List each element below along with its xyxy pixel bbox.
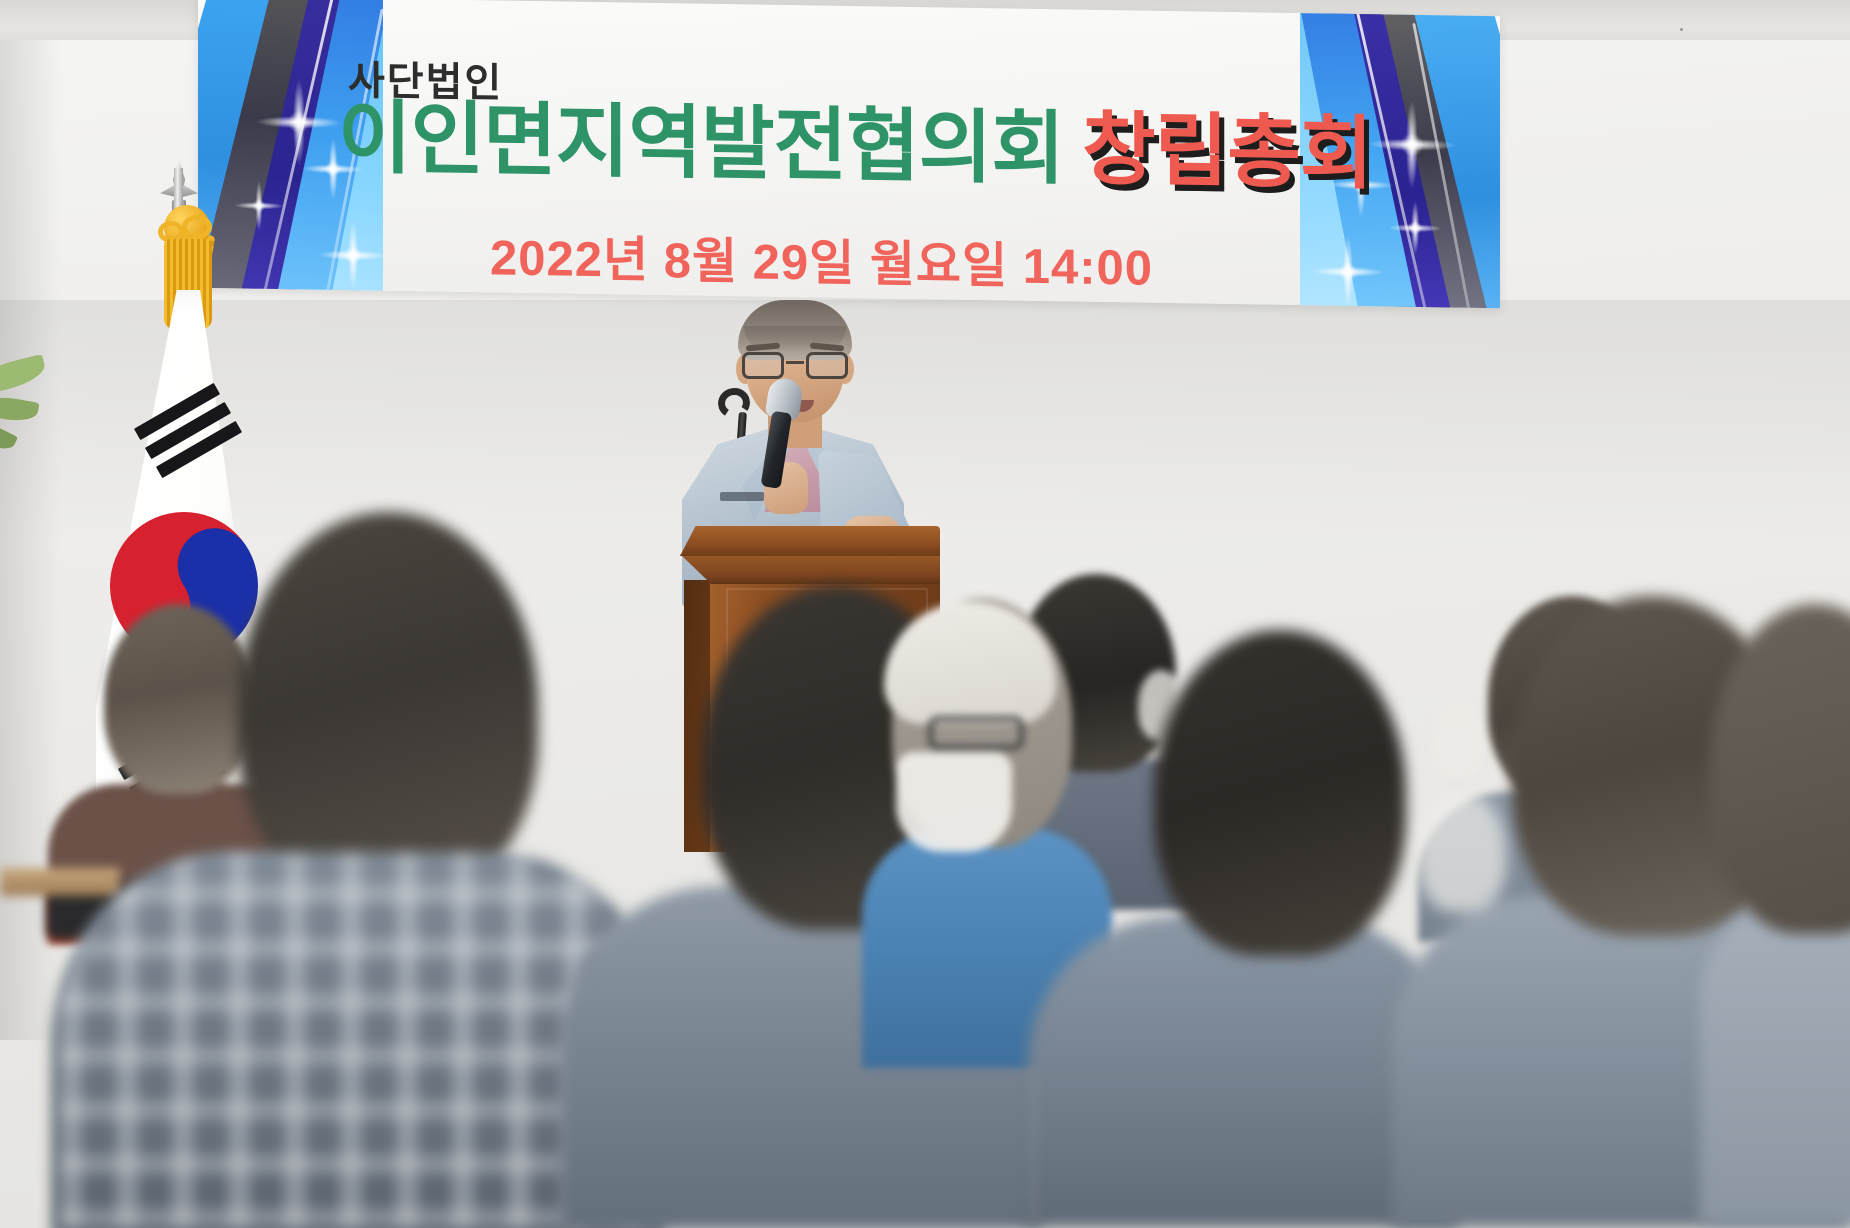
eyeglasses-icon — [928, 716, 1024, 750]
speaker-pocket — [720, 492, 764, 501]
banner-title: 이인면지역발전협의회창립총회 — [338, 98, 1372, 194]
photo-scene: 사단법인 이인면지역발전협의회창립총회 2022년 8월 29일 월요일 14:… — [0, 0, 1850, 1228]
face-mask — [896, 752, 1012, 852]
speaker-hair — [738, 300, 852, 360]
wall-shadow — [0, 300, 1850, 540]
banner-date-line: 2022년 8월 29일 월요일 14:00 — [490, 218, 1153, 299]
banner-title-organization: 이인면지역발전협의회 — [338, 93, 1064, 193]
eyeglasses-icon — [740, 352, 850, 382]
event-banner: 사단법인 이인면지역발전협의회창립총회 2022년 8월 29일 월요일 14:… — [198, 0, 1500, 308]
banner-title-event: 창립총회 — [1082, 105, 1372, 199]
audience-member — [1700, 604, 1850, 1224]
